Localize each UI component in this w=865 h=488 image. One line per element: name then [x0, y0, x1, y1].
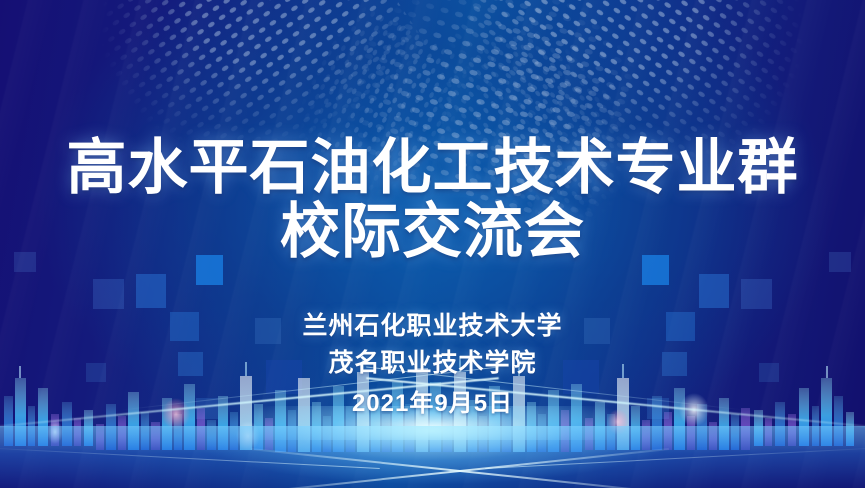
- floating-square: [584, 318, 610, 344]
- ground-beam-down-right: [251, 448, 669, 488]
- floating-square: [196, 255, 223, 285]
- glow-orb: [47, 420, 63, 444]
- horizon-glow: [0, 406, 865, 440]
- diagonal-sheen-overlay: [0, 0, 865, 488]
- floating-square: [136, 274, 166, 308]
- floating-square: [642, 255, 669, 285]
- floating-square: [666, 312, 695, 341]
- glow-orb: [607, 409, 629, 435]
- halftone-dot-fan-left: [24, 0, 465, 287]
- halftone-dot-fan-right: [406, 0, 865, 303]
- floating-square: [759, 363, 779, 382]
- city-skyline-silhouette: [0, 318, 865, 488]
- floating-square: [647, 398, 669, 419]
- ground-beam-edge-right: [485, 446, 865, 469]
- title-slide: 高水平石油化工技术专业群 校际交流会 兰州石化职业技术大学 茂名职业技术学院 2…: [0, 0, 865, 488]
- floating-square: [196, 398, 218, 419]
- floating-square: [829, 252, 851, 272]
- slide-subtitle-line-2: 茂名职业技术学院: [0, 347, 865, 379]
- halftone-dot-fan-center: [275, 0, 656, 231]
- ground-beam-edge-left: [0, 446, 380, 469]
- floating-square: [178, 352, 203, 376]
- light-beam-right-secondary: [366, 366, 744, 410]
- floating-square: [93, 279, 124, 309]
- floating-square: [662, 352, 687, 376]
- floating-square: [170, 312, 199, 341]
- ground-plane-glow: [0, 426, 865, 488]
- slide-subtitle-line-1: 兰州石化职业技术大学: [0, 310, 865, 342]
- floating-square: [14, 252, 36, 272]
- floating-square: [563, 360, 599, 394]
- light-beam-left: [0, 377, 499, 433]
- halftone-dot-fan-inner-left: [245, 0, 485, 272]
- glow-orb: [162, 398, 190, 430]
- floating-square: [266, 360, 302, 394]
- glow-orb: [679, 393, 709, 427]
- slide-title-line-2: 校际交流会: [0, 200, 865, 264]
- floating-square: [86, 363, 106, 382]
- floating-square: [699, 274, 729, 308]
- halftone-dot-fan-inner-right: [412, 4, 698, 297]
- slide-title-line-1: 高水平石油化工技术专业群: [0, 136, 865, 200]
- ground-beam-down-left: [251, 448, 669, 488]
- light-beam-right: [366, 377, 865, 433]
- floating-square: [255, 318, 281, 344]
- floating-square: [741, 279, 772, 309]
- glow-orb: [236, 421, 260, 451]
- slide-date: 2021年9月5日: [0, 388, 865, 420]
- light-beam-left-secondary: [121, 366, 499, 410]
